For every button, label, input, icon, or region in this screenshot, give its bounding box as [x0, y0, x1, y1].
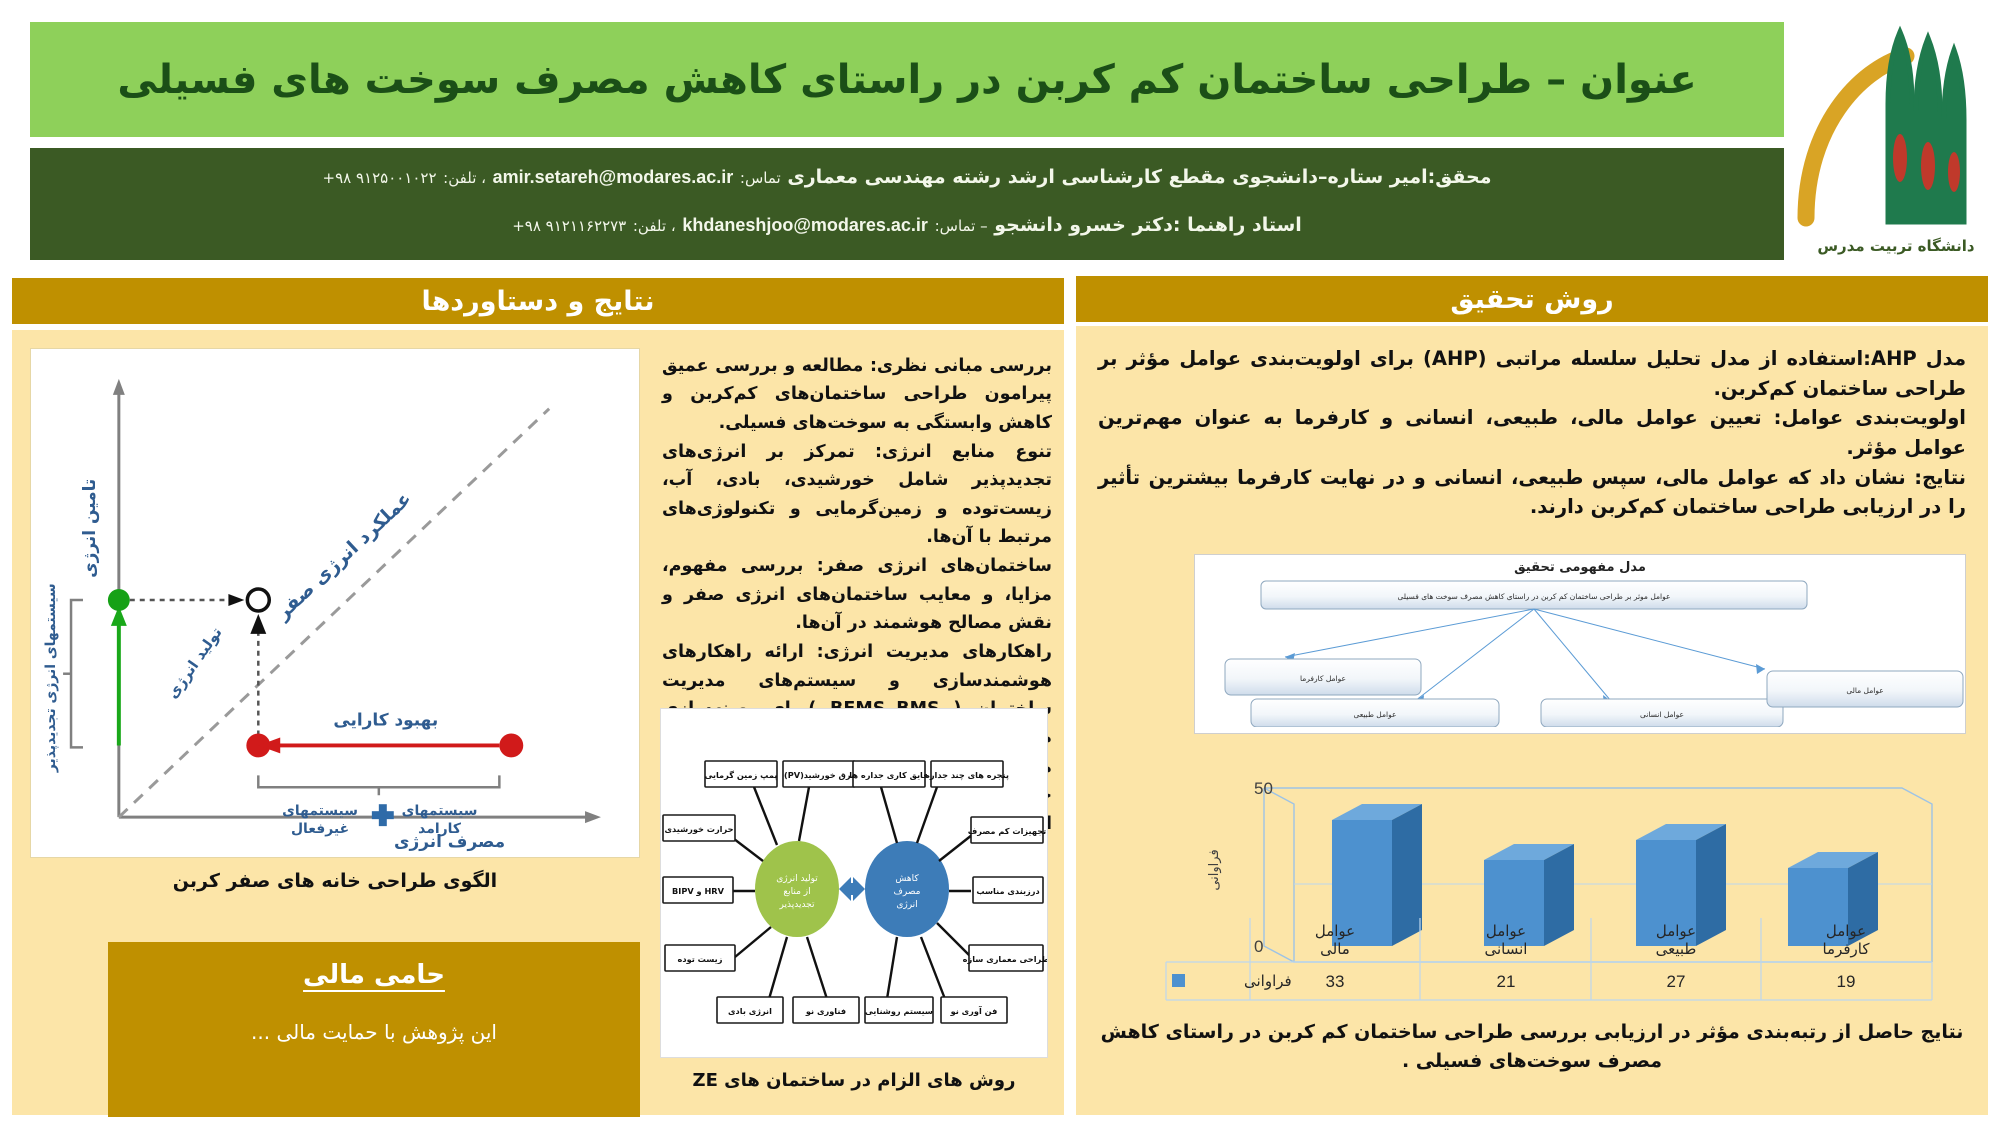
university-logo: دانشگاه تربیت مدرس	[1788, 8, 1988, 266]
supervisor-label: استاد راهنما :دکتر خسرو دانشجو	[994, 214, 1302, 236]
cat-3-line1: عوامل	[1826, 922, 1866, 940]
results-paragraph-2: تنوع منابع انرژی: تمرکز بر انرژی‌های تجد…	[662, 438, 1052, 551]
center-left-l2: از منابع	[783, 887, 810, 897]
renewable-bracket-label: سیستمهای انرژی تجدیدپذیر	[43, 583, 59, 773]
zero-carbon-design-figure: عملکرد انرژی صفر تامین انرژی مصرف انرژی …	[30, 348, 640, 858]
section-header-method-label: روش تحقیق	[1450, 284, 1613, 315]
value-2: 27	[1667, 972, 1686, 991]
left-node-6: فناوری نو	[805, 1006, 846, 1017]
radial-node: فن آوری نو	[941, 997, 1007, 1023]
results-panel: عملکرد انرژی صفر تامین انرژی مصرف انرژی …	[12, 330, 1064, 1115]
radial-node: پنجره های چند جداره	[925, 761, 1009, 787]
conceptual-model-title: مدل مفهومی تحقیق	[1195, 555, 1965, 575]
right-node-3: درزبندی مناسب	[976, 886, 1039, 897]
radial-node: HRV و BIPV	[663, 877, 733, 903]
right-figure-caption: نتایج حاصل از رتبه‌بندی مؤثر در ارزیابی …	[1098, 1018, 1966, 1075]
left-node-1: برق خورشید(PV)	[784, 770, 854, 781]
center-left-l3: تجدیدپذیر	[779, 900, 815, 910]
legend-label: فراوانی	[1244, 972, 1292, 990]
researcher-phone-label: ، تلفن:	[443, 169, 486, 187]
cat-2-line1: عوامل	[1656, 922, 1696, 940]
researcher-contact-label: تماس:	[740, 169, 781, 187]
generation-label: تولید انرژی	[163, 624, 225, 702]
right-node-5: سیستم روشنایی	[865, 1006, 933, 1017]
contact-band: محقق:امیر ستاره–دانشجوی مقطع کارشناسی ار…	[30, 148, 1784, 260]
sponsor-box: حامی مالی این پژوهش با حمایت مالی ...	[108, 942, 640, 1117]
radial-node: تجهیزات کم مصرف	[968, 817, 1046, 843]
center-right-l2: مصرف	[894, 887, 921, 897]
method-body-text: مدل AHP:استفاده از مدل تحلیل سلسله مراتب…	[1098, 344, 1966, 522]
value-0: 33	[1326, 972, 1345, 991]
right-node-0: عایق کاری جداره ها	[849, 770, 928, 781]
radial-diagram: تولید انرژی از منابع تجدیدپذیر کاهش مصرف…	[659, 709, 1047, 1059]
right-node-1: پنجره های چند جداره	[925, 770, 1009, 781]
supervisor-phone: ۹۱۲۱۱۶۲۲۷۳ ۹۸+	[512, 217, 626, 235]
results-paragraph-3: ساختمان‌های انرژی صفر: بررسی مفهوم، مزای…	[662, 552, 1052, 637]
radial-node: پمپ زمین گرمایی	[705, 761, 778, 787]
researcher-label: محقق:امیر ستاره–دانشجوی مقطع کارشناسی ار…	[787, 166, 1491, 188]
radial-node: انرژی بادی	[717, 997, 783, 1023]
right-node-6: فن آوری نو	[950, 1006, 998, 1017]
section-header-results-label: نتایج و دستاوردها	[421, 286, 654, 317]
radial-node: حرارت خورشیدی	[663, 815, 735, 841]
concept-root: عوامل موثر بر طراحی ساختمان کم کربن در ر…	[1398, 592, 1671, 601]
bottom-bracket-label-2-line1: سیستمهای	[402, 803, 478, 819]
y-tick-max: 50	[1254, 779, 1273, 798]
researcher-phone: ۹۱۲۵۰۰۱۰۲۲ ۹۸+	[322, 169, 436, 187]
right-node-4: طراحی معماری سازه	[963, 954, 1047, 965]
y-axis-title: فراوانی	[1207, 849, 1222, 890]
value-1: 21	[1497, 972, 1516, 991]
results-paragraph-1: بررسی مبانی نظری: مطالعه و بررسی عمیق پی…	[662, 352, 1052, 437]
method-panel: مدل AHP:استفاده از مدل تحلیل سلسله مراتب…	[1076, 326, 1988, 1115]
cat-0-line1: عوامل	[1315, 922, 1355, 940]
page-title: عنوان – طراحی ساختمان کم کربن در راستای …	[117, 57, 1696, 103]
concept-child-3: عوامل مالی	[1846, 686, 1883, 695]
cat-1-line2: انسانی	[1485, 940, 1528, 958]
poster-title-band: عنوان – طراحی ساختمان کم کربن در راستای …	[30, 22, 1784, 137]
left-node-2: حرارت خورشیدی	[665, 824, 734, 835]
researcher-line: محقق:امیر ستاره–دانشجوی مقطع کارشناسی ار…	[60, 166, 1754, 188]
poster-header: عنوان – طراحی ساختمان کم کربن در راستای …	[0, 0, 2000, 272]
legend-swatch	[1172, 974, 1185, 987]
method-paragraph-2: اولویت‌بندی عوامل: تعیین عوامل مالی، طبی…	[1098, 403, 1966, 462]
sponsor-body: این پژوهش با حمایت مالی ...	[134, 1020, 614, 1044]
plus-icon	[372, 804, 394, 826]
supervisor-contact-label: – تماس:	[935, 217, 988, 235]
radial-node: درزبندی مناسب	[973, 877, 1043, 903]
logo-caption: دانشگاه تربیت مدرس	[1817, 237, 1975, 255]
radial-node: برق خورشید(PV)	[783, 761, 855, 787]
sponsor-heading: حامی مالی	[134, 960, 614, 990]
concept-child-1: عوامل طبیعی	[1354, 710, 1397, 719]
left-node-4: زیست توده	[678, 954, 723, 965]
efficiency-label: بهبود کارایی	[333, 710, 438, 731]
radial-node: زیست توده	[665, 945, 735, 971]
left-node-5: انرژی بادی	[728, 1006, 772, 1017]
supervisor-phone-label: ، تلفن:	[633, 217, 676, 235]
energy-performance-diagram: عملکرد انرژی صفر تامین انرژی مصرف انرژی …	[31, 349, 639, 857]
radial-node: عایق کاری جداره ها	[849, 761, 928, 787]
bottom-bracket-label-1-line1: سیستمهای	[282, 803, 358, 819]
method-paragraph-1: مدل AHP:استفاده از مدل تحلیل سلسله مراتب…	[1098, 344, 1966, 403]
y-tick-min: 0	[1254, 937, 1263, 956]
center-left-l1: تولید انرژی	[776, 874, 818, 884]
y-axis-label: تامین انرژی	[79, 479, 100, 578]
cat-2-line2: طبیعی	[1656, 940, 1697, 958]
frequency-chart-svg: 50 0 فراوانی	[1146, 774, 1966, 1006]
supervisor-email[interactable]: khdaneshjoo@modares.ac.ir	[682, 215, 928, 235]
concept-child-2: عوامل انسانی	[1640, 710, 1684, 719]
section-header-results: نتایج و دستاوردها	[12, 278, 1064, 324]
bottom-bracket-label-2-line2: کارامد	[418, 821, 462, 837]
cat-1-line1: عوامل	[1486, 922, 1526, 940]
center-right-l1: کاهش	[895, 874, 919, 884]
left-figure-caption: الگوی طراحی خانه های صفر کربن	[30, 870, 640, 892]
cat-0-line2: مالی	[1320, 940, 1350, 958]
bidirectional-arrow-icon	[839, 877, 865, 901]
radial-node: طراحی معماری سازه	[963, 945, 1047, 971]
cat-3-line2: کارفرما	[1822, 940, 1870, 958]
left-node-3: HRV و BIPV	[672, 886, 725, 897]
researcher-email[interactable]: amir.setareh@modares.ac.ir	[493, 167, 734, 187]
frequency-bar-chart: 50 0 فراوانی	[1146, 774, 1966, 1006]
ze-methods-figure: تولید انرژی از منابع تجدیدپذیر کاهش مصرف…	[660, 708, 1048, 1058]
center-right-l3: انرژی	[896, 900, 917, 910]
supervisor-line: استاد راهنما :دکتر خسرو دانشجو – تماس: k…	[60, 214, 1754, 236]
method-paragraph-3: نتایج: نشان داد که عوامل مالی، سپس طبیعی…	[1098, 463, 1966, 522]
university-logo-icon: دانشگاه تربیت مدرس	[1788, 8, 1988, 266]
section-header-method: روش تحقیق	[1076, 276, 1988, 322]
conceptual-model-figure: مدل مفهومی تحقیق عوامل موثر بر طراحی ساخ…	[1194, 554, 1966, 734]
bottom-bracket-label-1-line2: غیرفعال	[291, 821, 349, 837]
radial-node: فناوری نو	[793, 997, 859, 1023]
right-node-2: تجهیزات کم مصرف	[968, 826, 1046, 837]
middle-figure-caption: روش های الزام در ساختمان های ZE	[660, 1070, 1048, 1091]
left-node-0: پمپ زمین گرمایی	[705, 770, 778, 781]
radial-node: سیستم روشنایی	[865, 997, 933, 1023]
concept-child-0: عوامل کارفرما	[1300, 674, 1346, 683]
conceptual-model-diagram: عوامل موثر بر طراحی ساختمان کم کربن در ر…	[1193, 575, 1965, 727]
value-3: 19	[1837, 972, 1856, 991]
